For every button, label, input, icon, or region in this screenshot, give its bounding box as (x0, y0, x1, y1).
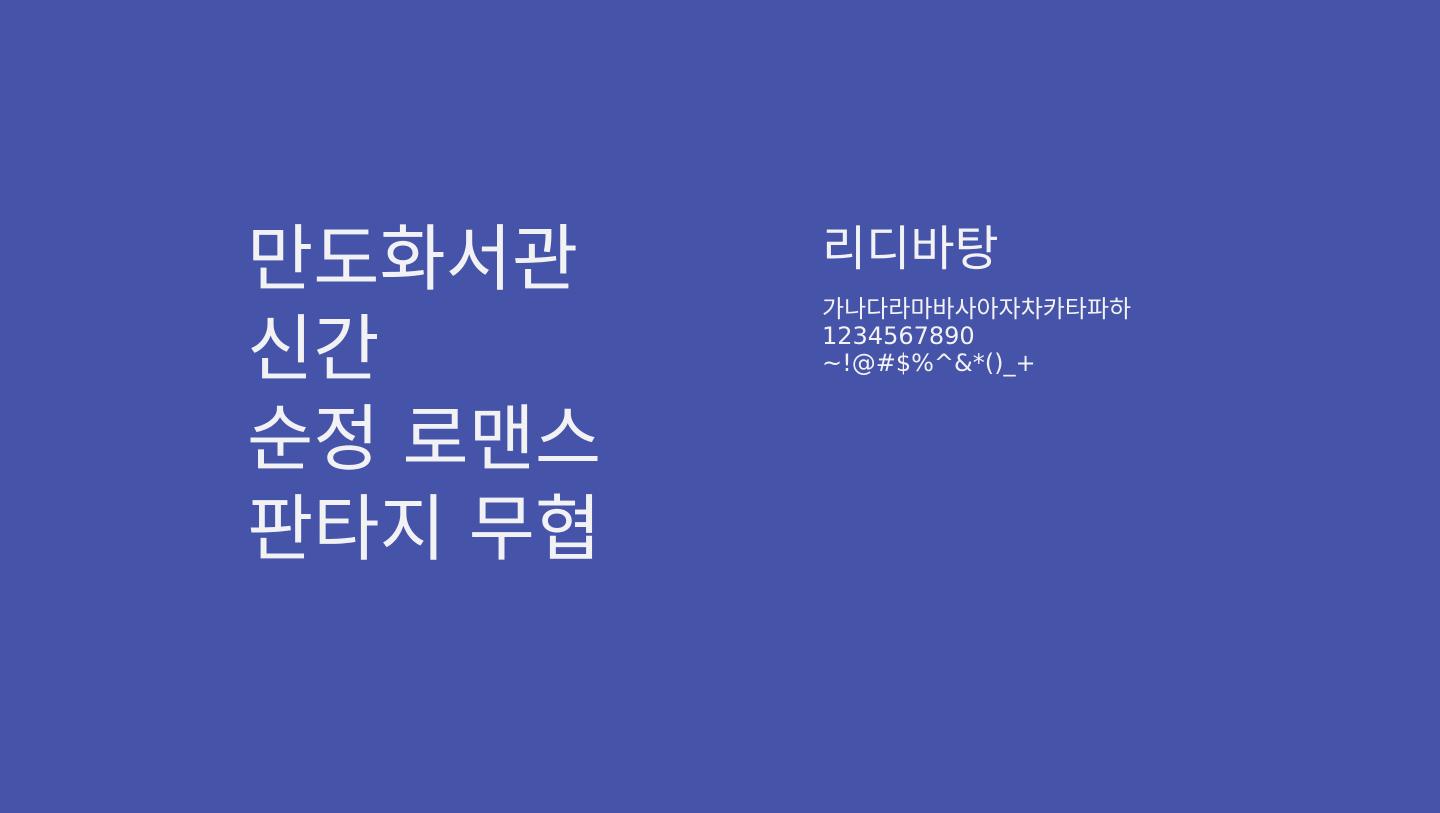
sample-line: 순정 로맨스 (247, 394, 787, 484)
sample-line: 신간 (247, 304, 787, 394)
sample-line: 만도화서관 (247, 214, 787, 304)
font-info-block: 리디바탕 가나다라마바사아자차카타파하 1234567890 ~!@#$%^&*… (822, 218, 1382, 377)
font-specimen-card: 만도화서관 신간 순정 로맨스 판타지 무협 리디바탕 가나다라마바사아자차카타… (0, 0, 1440, 813)
glyph-line-hangul: 가나다라마바사아자차카타파하 (822, 296, 1382, 323)
sample-line: 판타지 무협 (247, 484, 787, 574)
glyph-line-symbols: ~!@#$%^&*()_+ (822, 350, 1382, 377)
glyph-set: 가나다라마바사아자차카타파하 1234567890 ~!@#$%^&*()_+ (822, 296, 1382, 377)
glyph-line-numerals: 1234567890 (822, 323, 1382, 350)
font-name-title: 리디바탕 (822, 218, 1382, 280)
sample-text-block: 만도화서관 신간 순정 로맨스 판타지 무협 (247, 214, 787, 574)
